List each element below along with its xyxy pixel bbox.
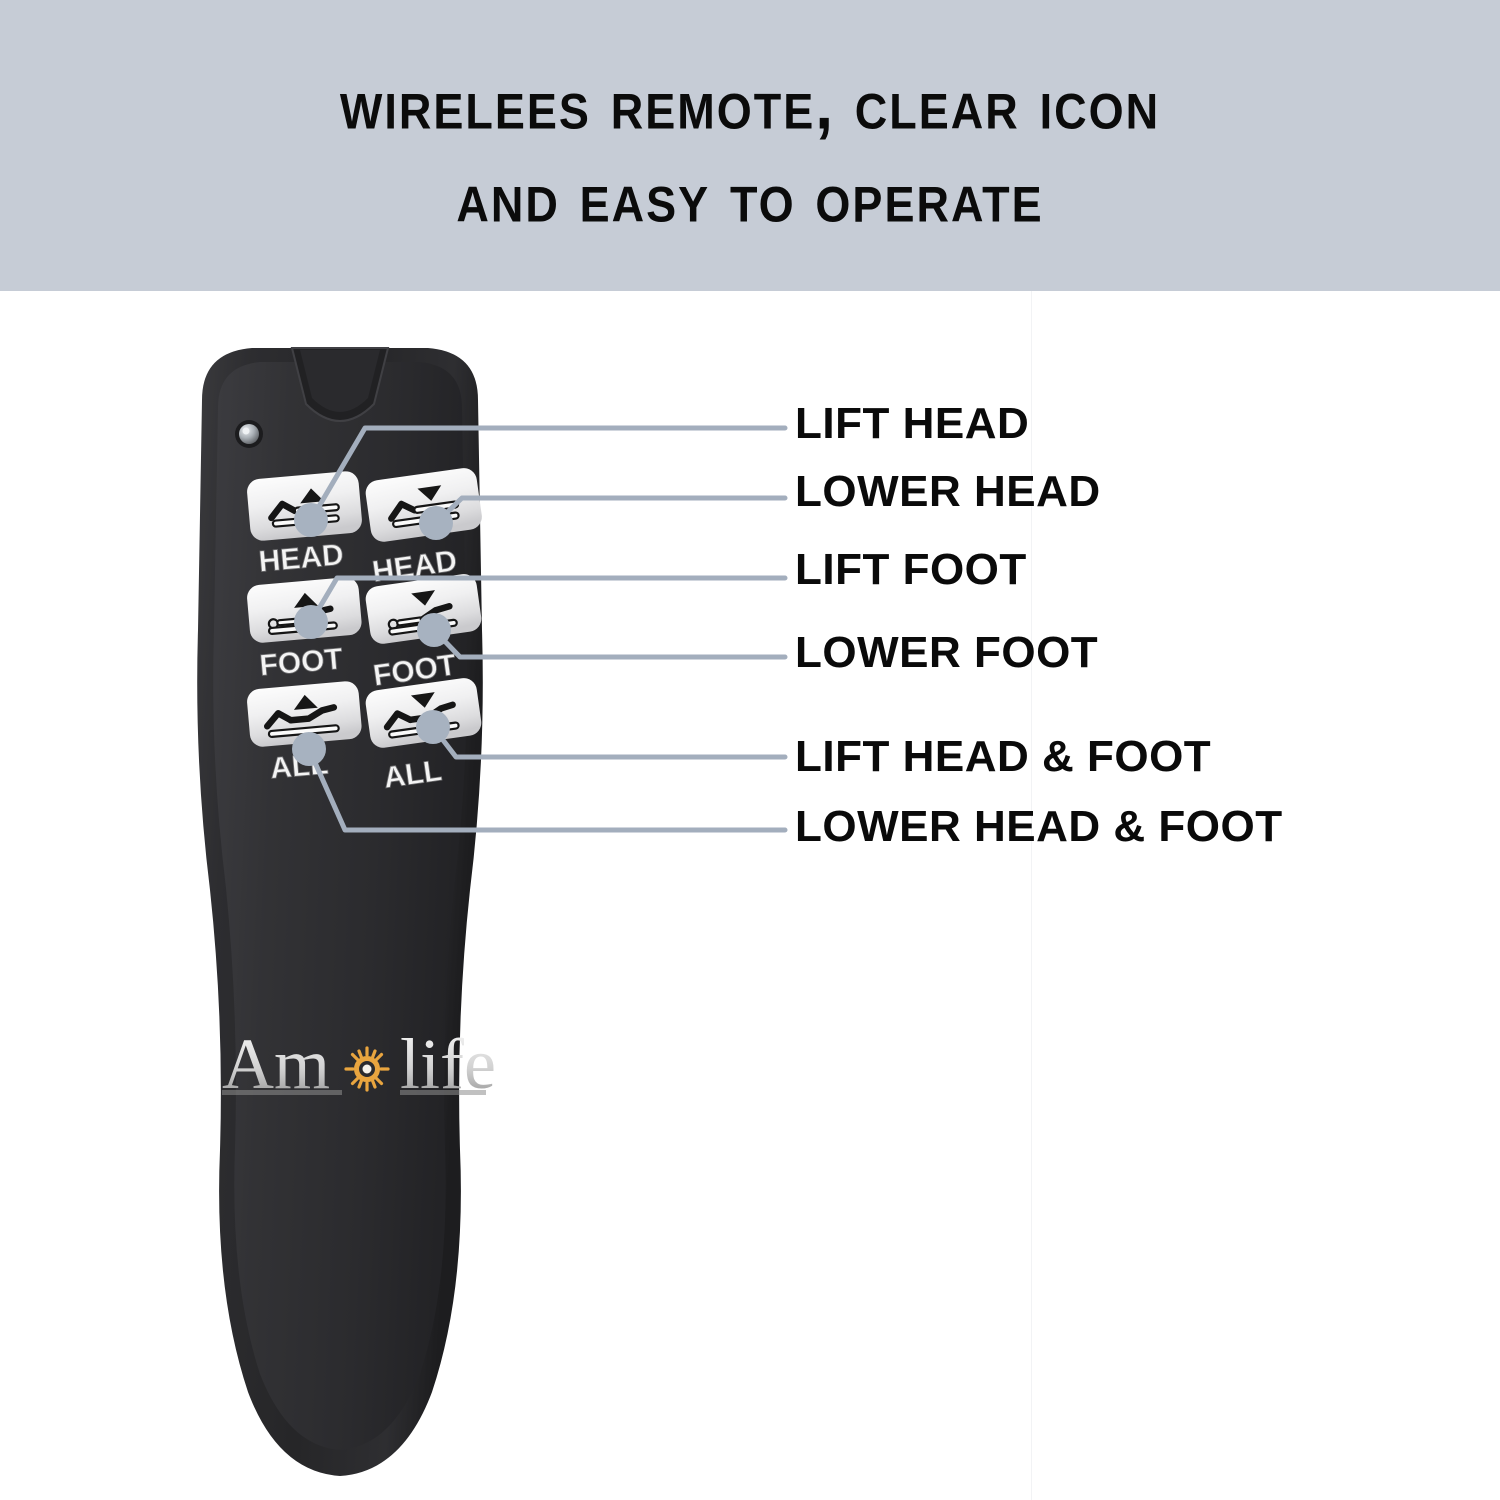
remote-control: HEAD HEAD (160, 330, 520, 1480)
page-title: Wirelees remote, clear icon and easy to … (0, 58, 1500, 244)
callout-label-lift-head-and-foot: LIFT HEAD & FOOT (795, 735, 1211, 779)
remote-button-foot-up[interactable] (246, 576, 363, 644)
callout-label-lower-head: LOWER HEAD (795, 470, 1101, 514)
remote-button-all-up[interactable] (246, 680, 363, 748)
remote-button-head-up[interactable] (246, 470, 363, 542)
sun-icon (346, 1048, 388, 1090)
callout-label-lower-head-and-foot: LOWER HEAD & FOOT (795, 805, 1283, 849)
remote-illustration: HEAD HEAD (160, 330, 520, 1480)
callout-label-lift-head: LIFT HEAD (795, 402, 1029, 446)
callout-label-lift-foot: LIFT FOOT (795, 548, 1027, 592)
remote-button-label-all-up: ALL (269, 748, 330, 786)
callout-label-lower-foot: LOWER FOOT (795, 631, 1098, 675)
header-banner: Wirelees remote, clear icon and easy to … (0, 0, 1500, 291)
product-infographic: Wirelees remote, clear icon and easy to … (0, 0, 1500, 1500)
